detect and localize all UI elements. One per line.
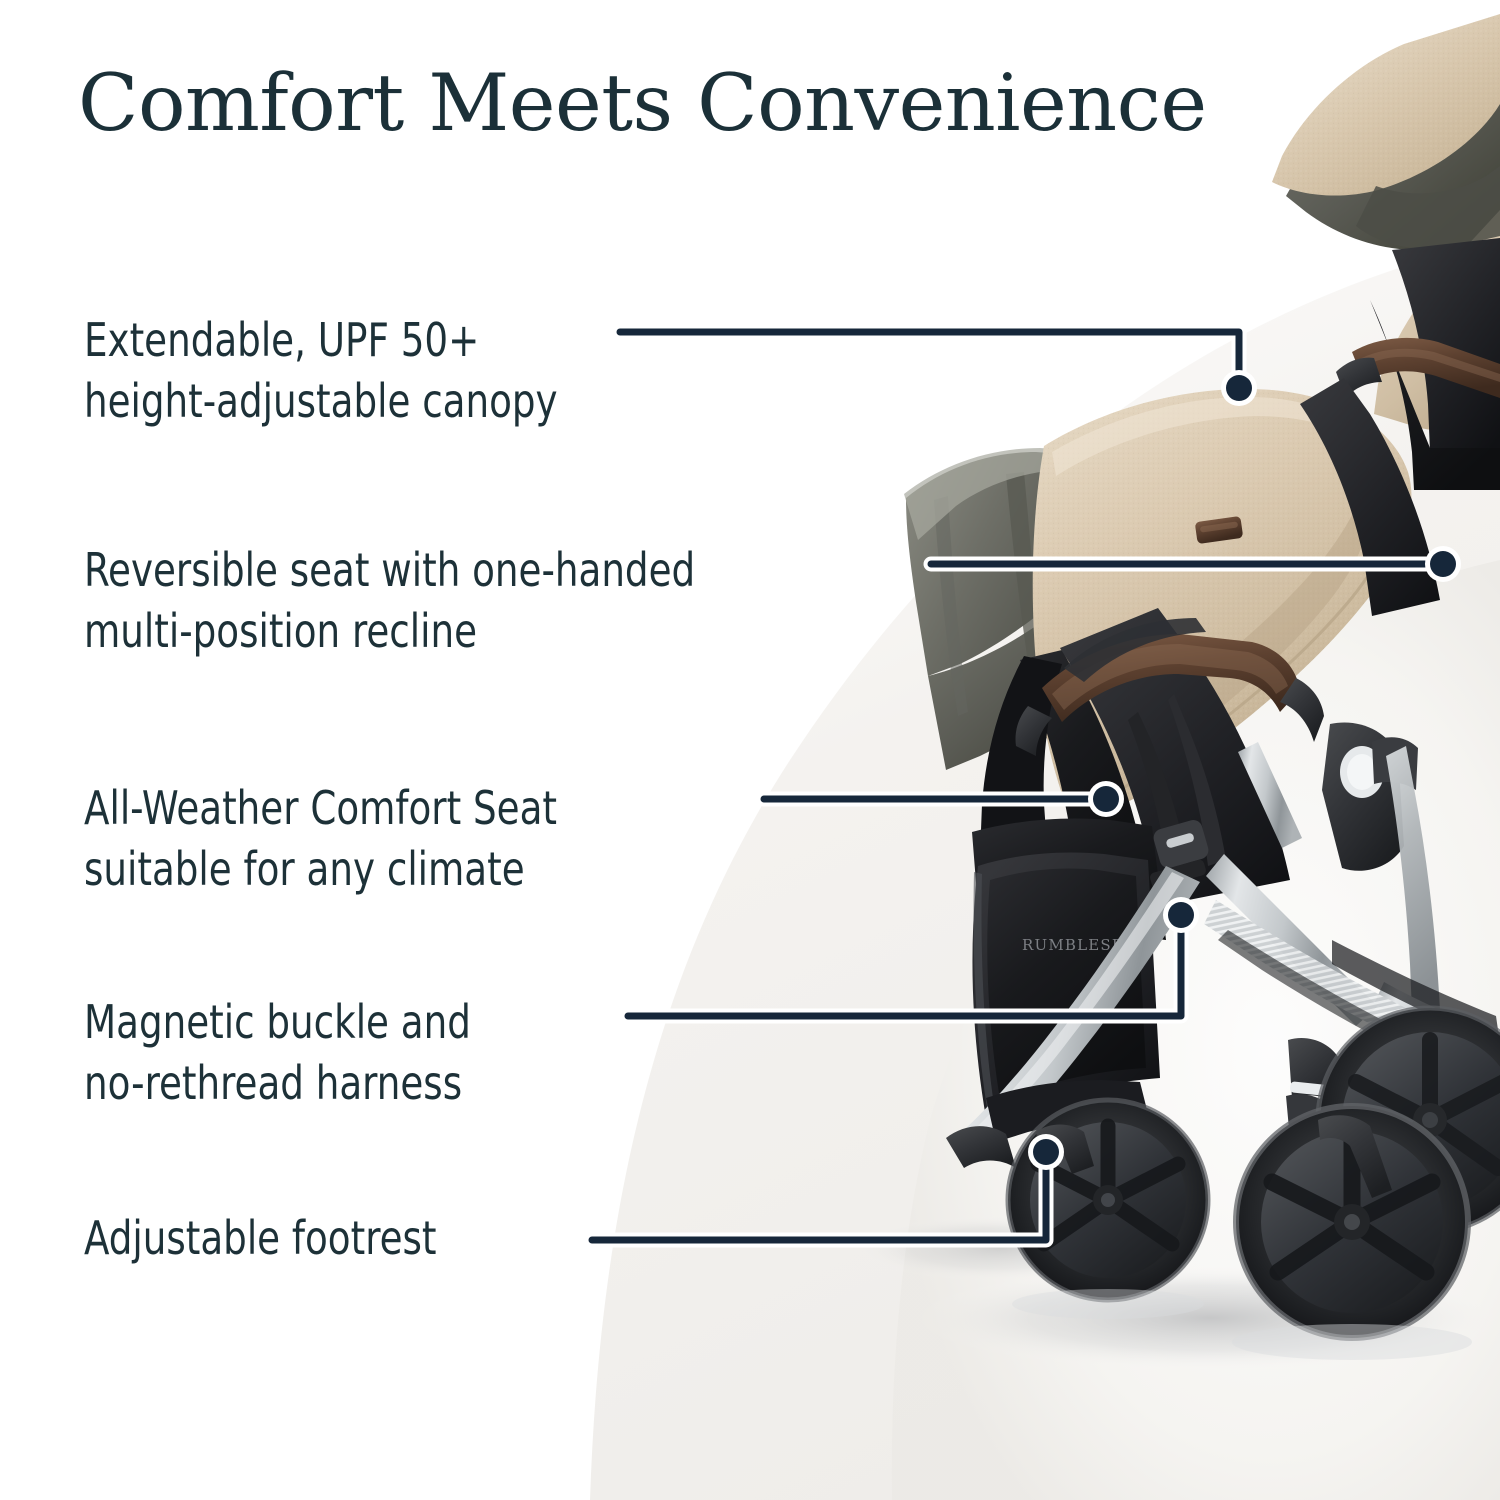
leader-dot-magnetic-buckle bbox=[1168, 902, 1194, 928]
infographic-canvas: RUMBLESEAT bbox=[0, 0, 1500, 1500]
leader-line-canopy bbox=[620, 332, 1257, 406]
leader-line-reversible-seat bbox=[931, 546, 1461, 582]
leader-dot-footrest bbox=[1033, 1139, 1059, 1165]
leader-line-magnetic-buckle bbox=[628, 897, 1199, 1016]
leader-dot-reversible-seat bbox=[1430, 551, 1456, 577]
leader-line-footrest bbox=[592, 1134, 1064, 1240]
leader-line-comfort-seat bbox=[764, 781, 1124, 817]
leader-lines-layer bbox=[0, 0, 1500, 1500]
leader-dot-canopy bbox=[1226, 375, 1252, 401]
leader-dot-comfort-seat bbox=[1093, 786, 1119, 812]
